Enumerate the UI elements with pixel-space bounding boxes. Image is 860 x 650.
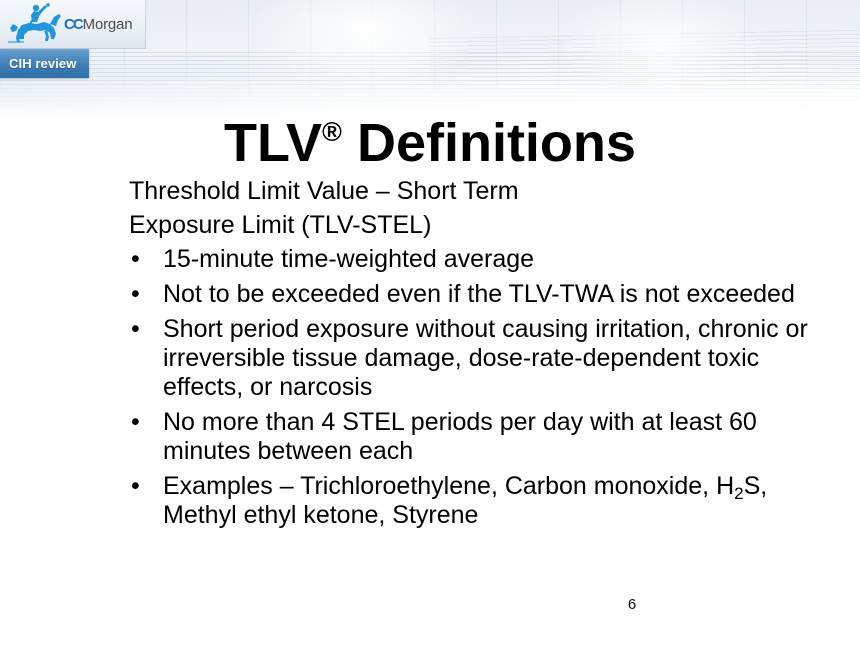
list-item-subscript: 2 xyxy=(734,484,743,503)
bullet-list: •15-minute time-weighted average•Not to … xyxy=(129,245,829,530)
cih-review-badge-label: CIH review xyxy=(9,56,76,71)
list-item: •Not to be exceeded even if the TLV-TWA … xyxy=(129,280,829,309)
bullet-marker-icon: • xyxy=(131,280,140,309)
list-item: •Examples – Trichloroethylene, Carbon mo… xyxy=(129,472,829,530)
list-item-label: Examples – Trichloroethylene, Carbon mon… xyxy=(163,472,734,500)
page-title-main: TLV xyxy=(224,113,322,173)
list-item-label: No more than 4 STEL periods per day with… xyxy=(163,408,757,465)
bullet-marker-icon: • xyxy=(131,245,140,274)
bullet-marker-icon: • xyxy=(131,408,140,437)
list-item-label: Short period exposure without causing ir… xyxy=(163,315,808,401)
page-title: TLV® Definitions xyxy=(0,114,860,173)
bullet-marker-icon: • xyxy=(131,315,140,344)
page-title-rest: Definitions xyxy=(342,113,636,173)
list-item: •Short period exposure without causing i… xyxy=(129,315,829,402)
morgan-horse-rider-icon xyxy=(6,3,62,45)
list-item-label: 15-minute time-weighted average xyxy=(163,245,534,273)
page-number: 6 xyxy=(0,596,860,613)
list-item-label: Not to be exceeded even if the TLV-TWA i… xyxy=(163,280,795,308)
registered-trademark-icon: ® xyxy=(322,117,342,147)
bullet-marker-icon: • xyxy=(131,472,140,501)
logo-wordmark-prefix: CC xyxy=(64,16,82,33)
company-logo: CCMorgan xyxy=(0,0,146,49)
lead-paragraph: Threshold Limit Value – Short TermExposu… xyxy=(129,174,829,242)
lead-line: Threshold Limit Value – Short Term xyxy=(129,174,829,208)
list-item: •15-minute time-weighted average xyxy=(129,245,829,274)
logo-wordmark-name: Morgan xyxy=(83,16,133,33)
logo-wordmark: CCMorgan xyxy=(64,16,132,33)
slide-body: Threshold Limit Value – Short TermExposu… xyxy=(129,174,829,536)
cih-review-badge[interactable]: CIH review xyxy=(0,49,89,78)
list-item: •No more than 4 STEL periods per day wit… xyxy=(129,408,829,466)
lead-line: Exposure Limit (TLV-STEL) xyxy=(129,208,829,242)
